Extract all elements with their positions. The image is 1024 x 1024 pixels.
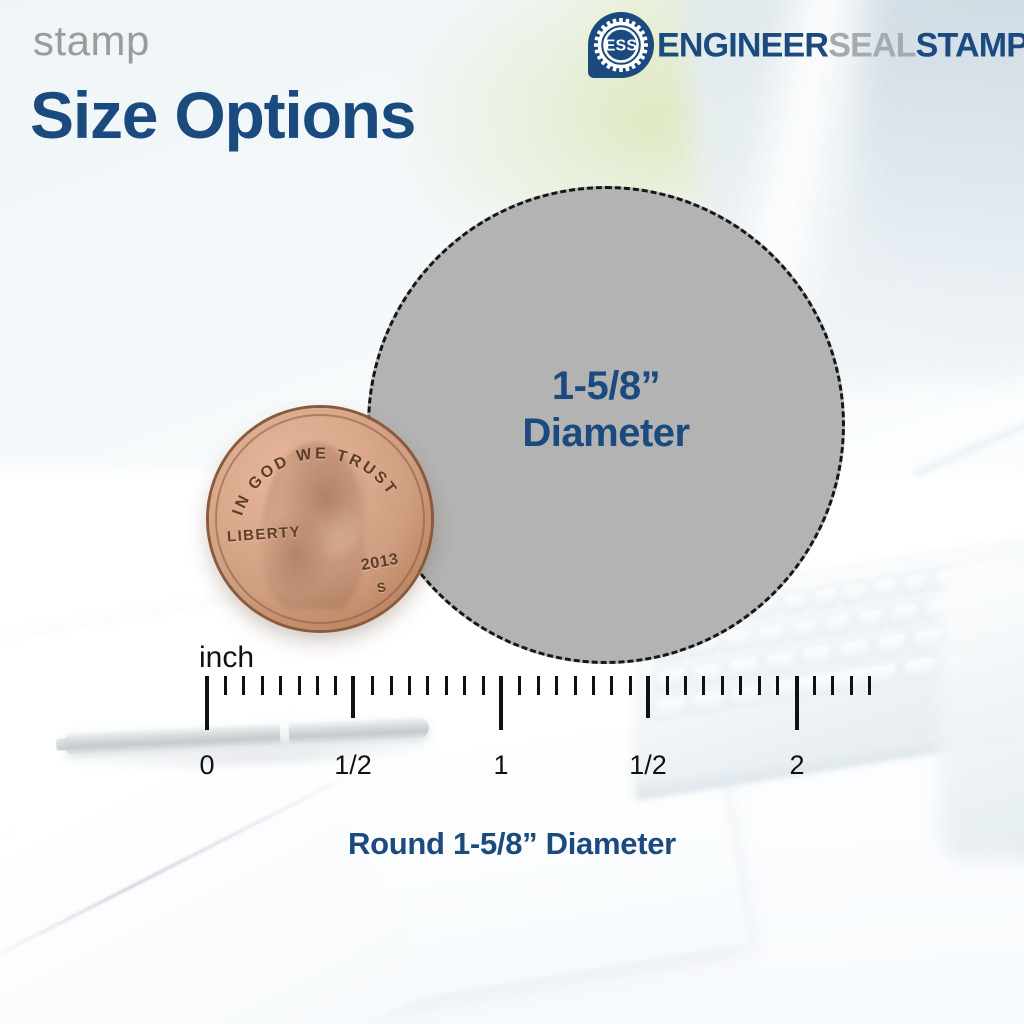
pen-band [280,723,290,744]
stamp-size-label: 1-5/8” Diameter [370,363,842,457]
logo-word-stamps: STAMPS [916,26,1024,64]
kicker-label: stamp [33,20,150,62]
coin-motto-text: IN GOD WE TRUST [230,445,401,517]
logo-wordmark: ENGINEERSEALSTAMPS.COM [657,28,1024,63]
svg-text:ESS: ESS [605,38,638,55]
coin-mint-mark: S [376,579,387,595]
background-mug [940,560,1024,860]
stamp-size-value: 1-5/8” [552,364,660,408]
ess-badge-icon: ESS [588,12,654,78]
logo-word-engineer: ENGINEER [657,26,828,64]
reference-penny-coin: IN GOD WE TRUST LIBERTY 2013 S [209,408,431,630]
logo-word-seal: SEAL [828,26,915,64]
brand-logo[interactable]: ESS ENGINEERSEALSTAMPS.COM [588,10,1024,80]
product-size-graphic: stamp Size Options [0,0,1024,1024]
page-title: Size Options [30,82,415,148]
coin-motto: IN GOD WE TRUST [209,408,431,630]
product-caption: Round 1-5/8” Diameter [0,826,1024,862]
stamp-size-circle: 1-5/8” Diameter [367,186,845,664]
stamp-size-unit: Diameter [370,410,842,457]
